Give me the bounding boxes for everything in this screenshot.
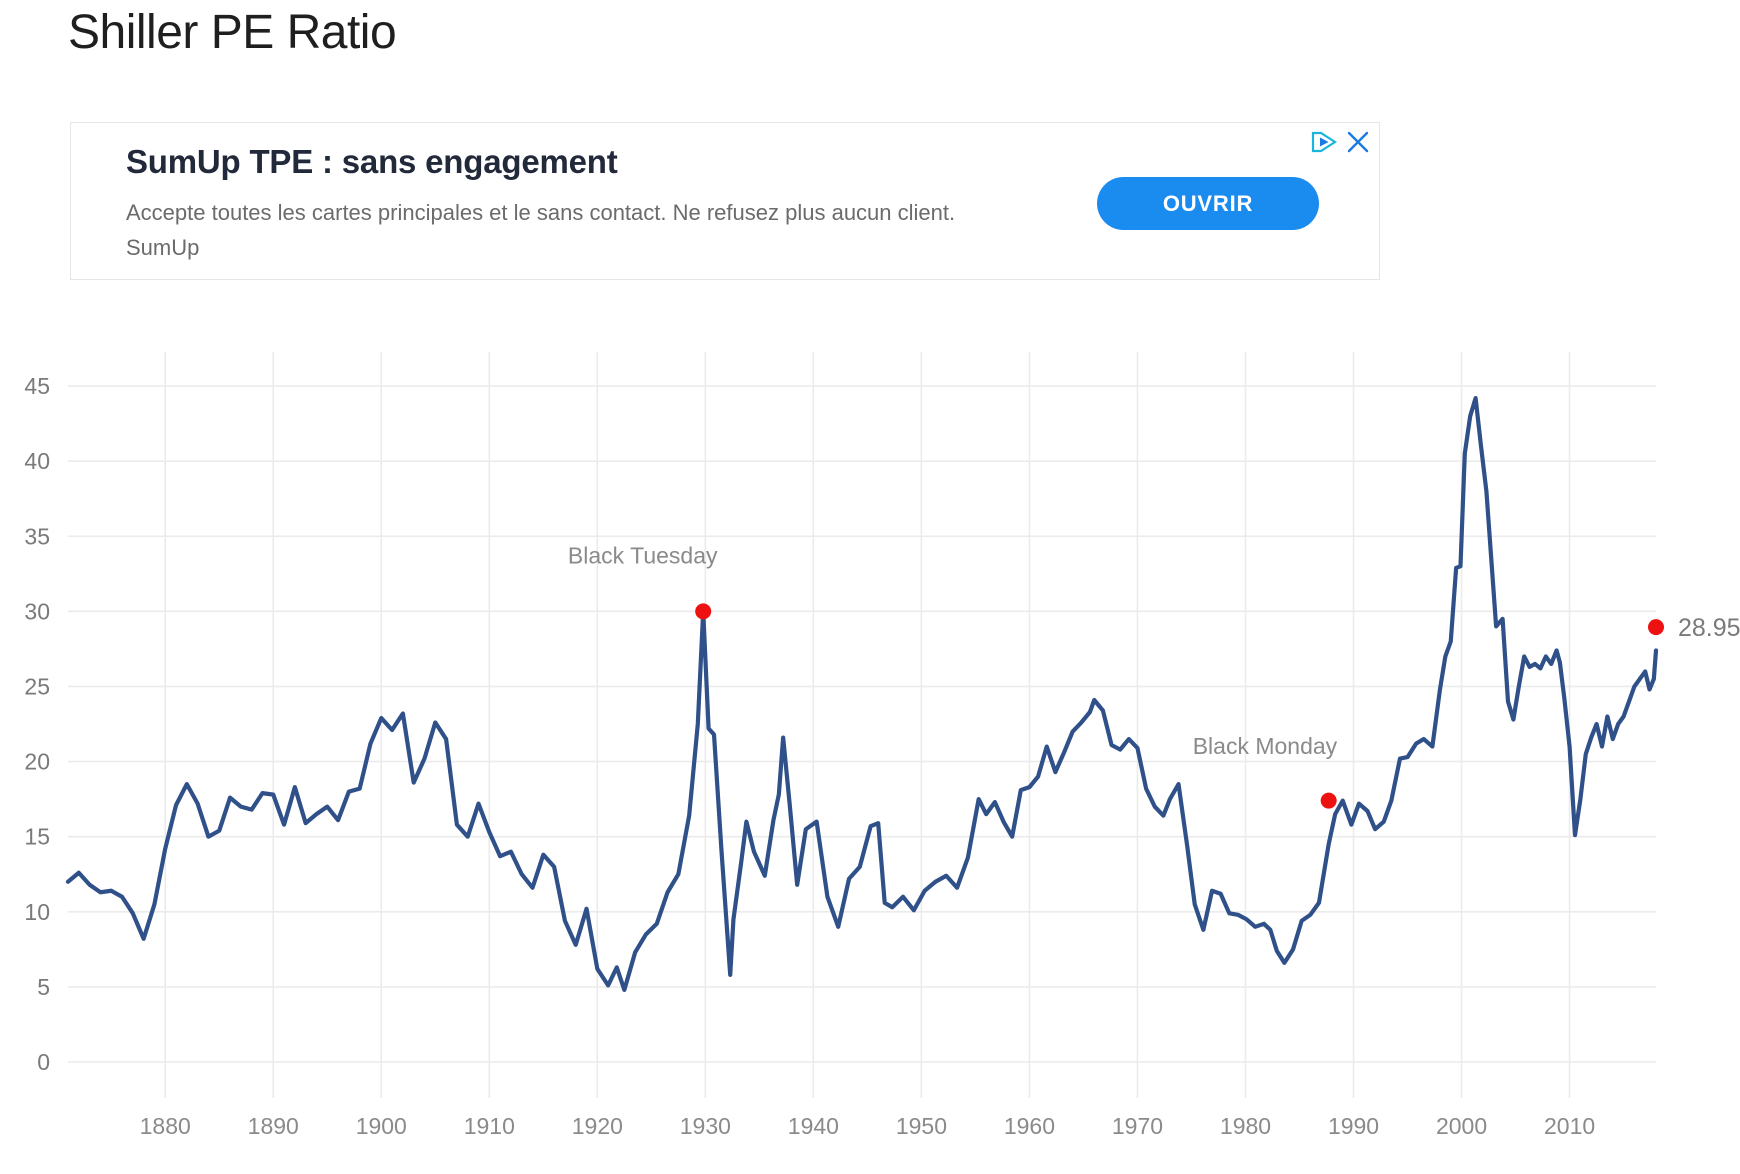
chart-gridlines	[68, 352, 1656, 1098]
y-axis-tick-label: 30	[24, 598, 50, 624]
annotation-marker-dot	[695, 603, 711, 619]
x-axis-tick-label: 1910	[464, 1113, 515, 1139]
series-line-shiller-pe	[68, 398, 1656, 990]
annotation-label: Black Tuesday	[568, 542, 718, 568]
x-axis-tick-label: 2010	[1544, 1113, 1595, 1139]
chart-canvas: 051015202530354045 188018901900191019201…	[0, 318, 1740, 1174]
y-axis-tick-label: 40	[24, 448, 50, 474]
x-axis-tick-label: 1900	[356, 1113, 407, 1139]
advertisement-banner[interactable]: SumUp TPE : sans engagement Accepte tout…	[70, 122, 1380, 280]
x-axis-labels: 1880189019001910192019301940195019601970…	[140, 1113, 1596, 1139]
y-axis-tick-label: 5	[37, 974, 50, 1000]
x-axis-tick-label: 2000	[1436, 1113, 1487, 1139]
ad-description: Accepte toutes les cartes principales et…	[126, 195, 1016, 265]
x-axis-tick-label: 1920	[572, 1113, 623, 1139]
page-title: Shiller PE Ratio	[68, 4, 396, 62]
x-axis-tick-label: 1970	[1112, 1113, 1163, 1139]
chart-annotations: Black TuesdayBlack Monday28.95	[568, 542, 1740, 808]
last-value-marker-dot	[1648, 619, 1664, 635]
annotation-label: Black Monday	[1193, 733, 1338, 759]
x-axis-tick-label: 1940	[788, 1113, 839, 1139]
y-axis-tick-label: 15	[24, 824, 50, 850]
y-axis-tick-label: 25	[24, 673, 50, 699]
annotation-marker-dot	[1321, 793, 1337, 809]
ad-open-button[interactable]: OUVRIR	[1097, 177, 1319, 230]
y-axis-tick-label: 35	[24, 523, 50, 549]
close-x-icon[interactable]	[1345, 129, 1371, 155]
y-axis-tick-label: 45	[24, 373, 50, 399]
chart-series-line	[68, 398, 1656, 990]
last-value-label: 28.95	[1678, 614, 1740, 642]
adchoices-triangle-icon[interactable]	[1311, 131, 1337, 153]
y-axis-tick-label: 20	[24, 749, 50, 775]
ad-headline: SumUp TPE : sans engagement	[126, 143, 618, 181]
x-axis-tick-label: 1890	[248, 1113, 299, 1139]
shiller-pe-chart: 051015202530354045 188018901900191019201…	[0, 318, 1740, 1174]
x-axis-tick-label: 1930	[680, 1113, 731, 1139]
y-axis-labels: 051015202530354045	[24, 373, 50, 1075]
y-axis-tick-label: 0	[37, 1049, 50, 1075]
x-axis-tick-label: 1960	[1004, 1113, 1055, 1139]
y-axis-tick-label: 10	[24, 899, 50, 925]
x-axis-tick-label: 1980	[1220, 1113, 1271, 1139]
x-axis-tick-label: 1880	[140, 1113, 191, 1139]
x-axis-tick-label: 1950	[896, 1113, 947, 1139]
x-axis-tick-label: 1990	[1328, 1113, 1379, 1139]
